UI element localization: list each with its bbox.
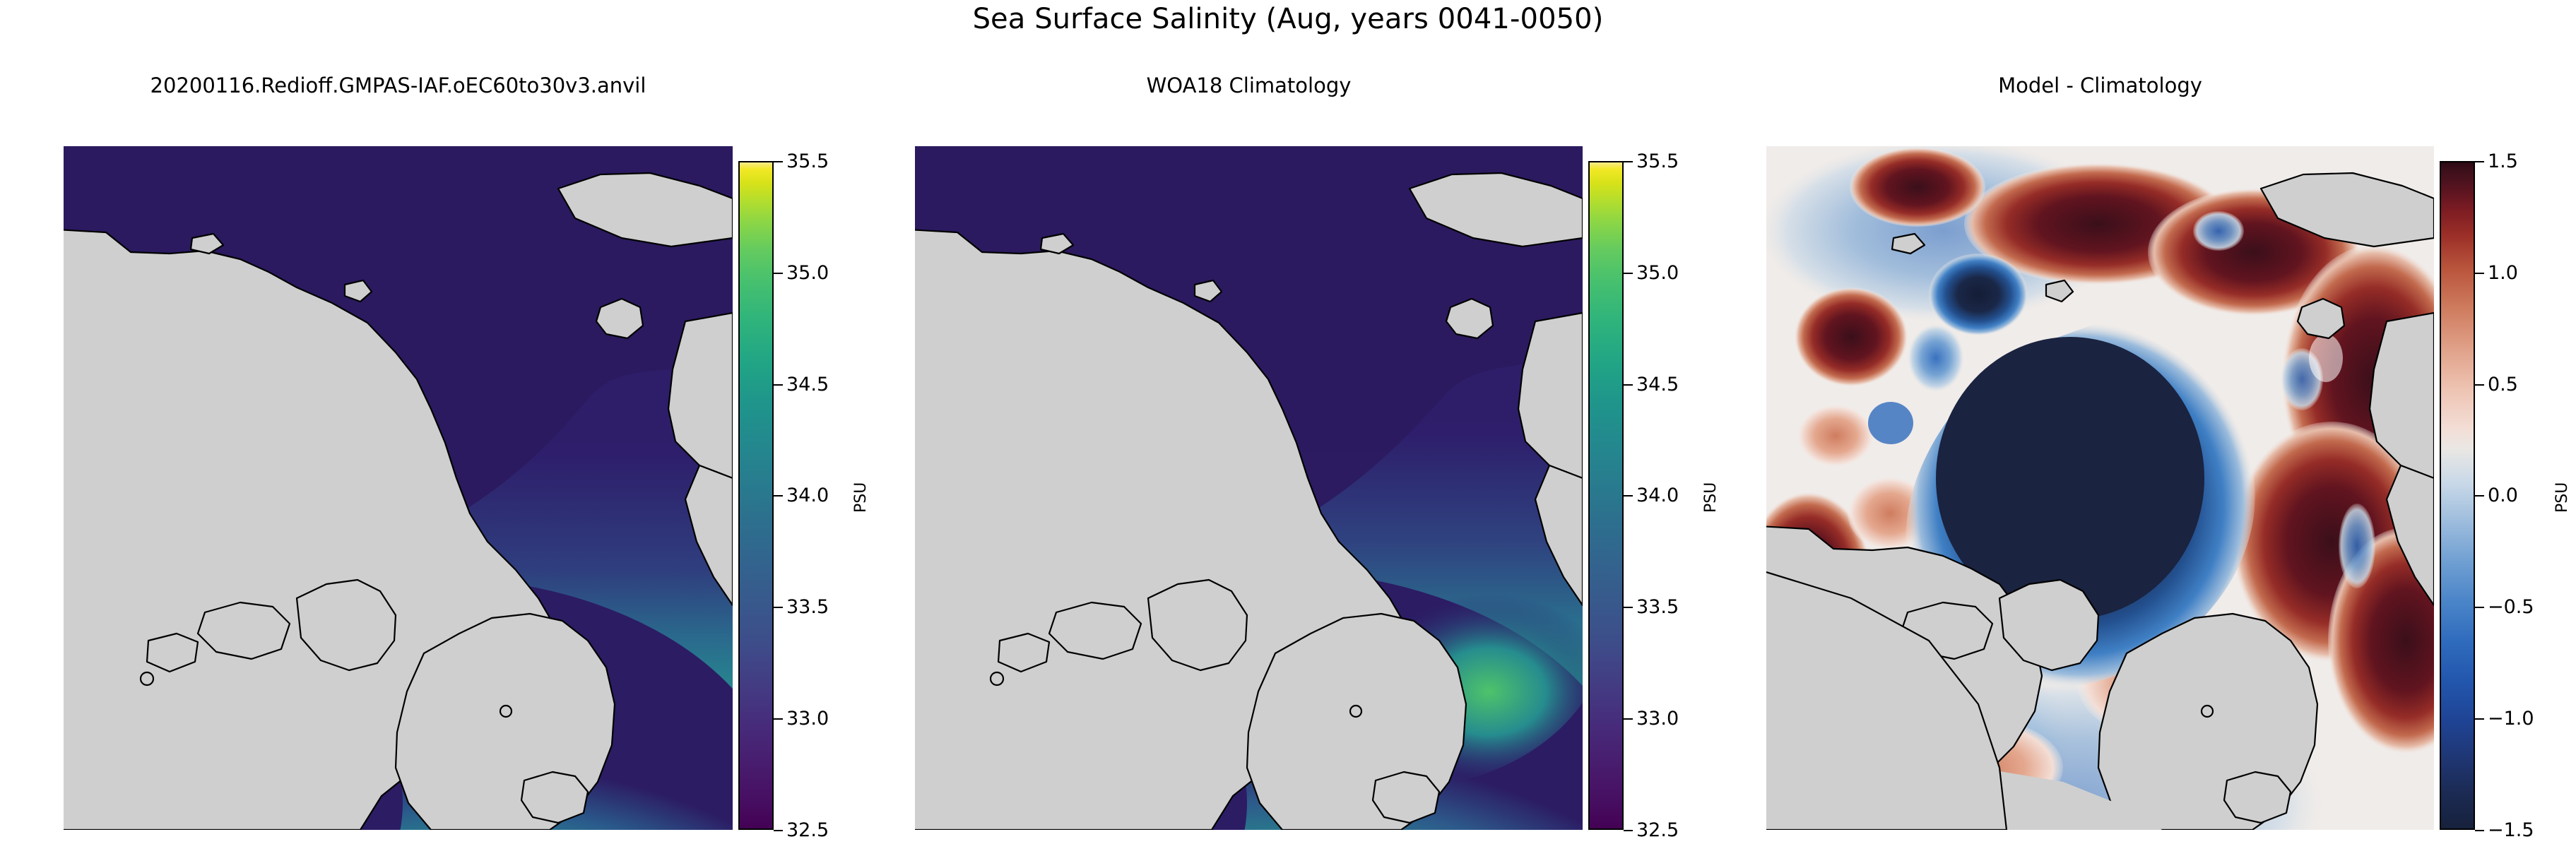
colorbar-tick-label: 34.0: [786, 485, 829, 506]
tick-mark: [774, 384, 783, 386]
colorbar-tick-label: 1.0: [2488, 262, 2518, 284]
map-render-model: [64, 146, 733, 830]
colorbar-tick-label: 35.5: [786, 150, 829, 172]
colorbar-model[interactable]: [738, 161, 774, 830]
colorbar-tick-label: 35.5: [1636, 150, 1679, 172]
colorbar-tick-label: 35.0: [1636, 262, 1679, 284]
colorbar-gradient-difference: [2441, 162, 2474, 828]
colorbar-tick-label: 34.5: [1636, 374, 1679, 396]
tick-mark: [774, 607, 783, 608]
tick-mark: [2475, 273, 2484, 274]
colorbar-difference[interactable]: [2440, 161, 2475, 830]
panel-title-climatology: WOA18 Climatology: [915, 73, 1583, 97]
map-layer-difference: [1766, 146, 2434, 830]
tick-mark: [2475, 161, 2484, 162]
colorbar-tick-label: 0.0: [2488, 485, 2518, 506]
colorbar-tick-label: −1.5: [2488, 819, 2534, 841]
panel-title-model: 20200116.Redioff.GMPAS-IAF.oEC60to30v3.a…: [64, 73, 733, 97]
colorbar-tick-label: 34.5: [786, 374, 829, 396]
colorbar-tick-label: −0.5: [2488, 596, 2534, 618]
tick-mark: [774, 830, 783, 831]
map-panel-difference[interactable]: [1766, 146, 2434, 830]
colorbar-gradient-model: [740, 162, 772, 828]
tick-mark: [1624, 495, 1633, 497]
tick-mark: [2475, 830, 2484, 831]
tick-mark: [1624, 718, 1633, 720]
map-panel-model[interactable]: [64, 146, 733, 830]
colorbar-label-climatology: PSU: [1702, 482, 1720, 513]
tick-mark: [1624, 607, 1633, 608]
tick-mark: [774, 495, 783, 497]
tick-mark: [774, 718, 783, 720]
colorbar-tick-label: 35.0: [786, 262, 829, 284]
colorbar-tick-label: −1.0: [2488, 708, 2534, 730]
tick-mark: [1624, 384, 1633, 386]
tick-mark: [2475, 718, 2484, 720]
map-panel-climatology[interactable]: [915, 146, 1583, 830]
figure-canvas: Sea Surface Salinity (Aug, years 0041-00…: [0, 0, 2576, 856]
map-render-difference: [1766, 146, 2434, 830]
colorbar-tick-label: 33.5: [786, 596, 829, 618]
tick-mark: [774, 273, 783, 274]
colorbar-tick-label: 33.5: [1636, 596, 1679, 618]
colorbar-tick-label: 33.0: [1636, 708, 1679, 730]
figure-title: Sea Surface Salinity (Aug, years 0041-00…: [0, 3, 2576, 35]
tick-mark: [774, 161, 783, 162]
tick-mark: [2475, 495, 2484, 497]
map-render-climatology: [915, 146, 1583, 830]
colorbar-tick-label: 32.5: [786, 819, 829, 841]
panel-title-difference: Model - Climatology: [1766, 73, 2434, 97]
colorbar-tick-label: 33.0: [786, 708, 829, 730]
colorbar-climatology[interactable]: [1588, 161, 1624, 830]
map-layer-model: [64, 146, 733, 830]
tick-mark: [1624, 273, 1633, 274]
tick-mark: [1624, 830, 1633, 831]
colorbar-tick-label: 0.5: [2488, 374, 2518, 396]
colorbar-label-model: PSU: [852, 482, 870, 513]
colorbar-label-difference: PSU: [2553, 482, 2571, 513]
tick-mark: [2475, 384, 2484, 386]
colorbar-tick-label: 34.0: [1636, 485, 1679, 506]
map-layer-climatology: [915, 146, 1583, 830]
tick-mark: [1624, 161, 1633, 162]
colorbar-tick-label: 32.5: [1636, 819, 1679, 841]
colorbar-gradient-climatology: [1590, 162, 1622, 828]
colorbar-tick-label: 1.5: [2488, 150, 2518, 172]
tick-mark: [2475, 607, 2484, 608]
